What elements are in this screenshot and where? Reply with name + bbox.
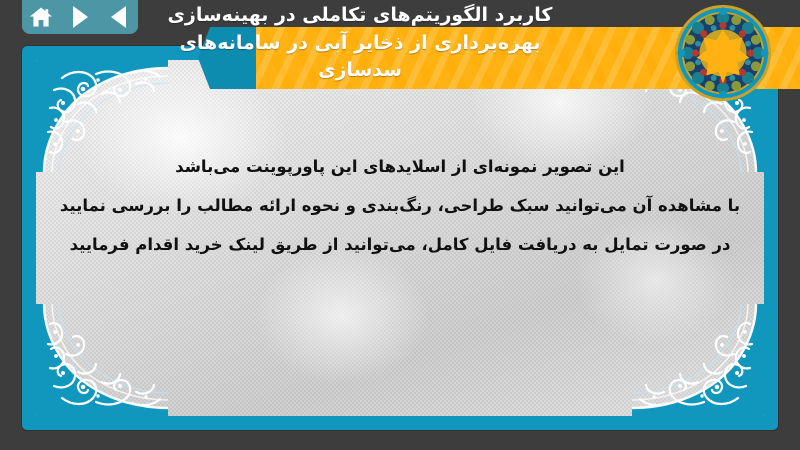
- home-button[interactable]: [26, 4, 56, 30]
- body-line-2: با مشاهده آن می‌توانید سبک طراحی، رنگ‌بن…: [56, 187, 744, 226]
- arabesque-corner-ornament-icon: [632, 304, 764, 416]
- triangle-right-icon: [73, 6, 88, 28]
- triangle-left-icon: [111, 6, 126, 28]
- slide-navigation-bar: [22, 0, 138, 34]
- home-icon: [29, 6, 53, 28]
- presentation-slide: کاربرد الگوریتم‌های تکاملی در بهینه‌سازی…: [0, 0, 800, 450]
- next-slide-button[interactable]: [65, 4, 95, 30]
- slide-body-text: این تصویر نمونه‌ای از اسلایدهای این پاور…: [56, 148, 744, 264]
- body-line-1: این تصویر نمونه‌ای از اسلایدهای این پاور…: [56, 148, 744, 187]
- title-line-2: بهره‌برداری از ذخایر آبی در سامانه‌های: [40, 30, 680, 58]
- content-panel: این تصویر نمونه‌ای از اسلایدهای این پاور…: [36, 60, 764, 416]
- body-line-3: در صورت تمایل به دریافت فایل کامل، می‌تو…: [56, 226, 744, 265]
- content-frame: این تصویر نمونه‌ای از اسلایدهای این پاور…: [22, 46, 778, 430]
- persian-medallion-ornament-icon: [674, 4, 772, 102]
- previous-slide-button[interactable]: [104, 4, 134, 30]
- title-line-3: سدسازی: [40, 57, 680, 85]
- arabesque-corner-ornament-icon: [36, 304, 168, 416]
